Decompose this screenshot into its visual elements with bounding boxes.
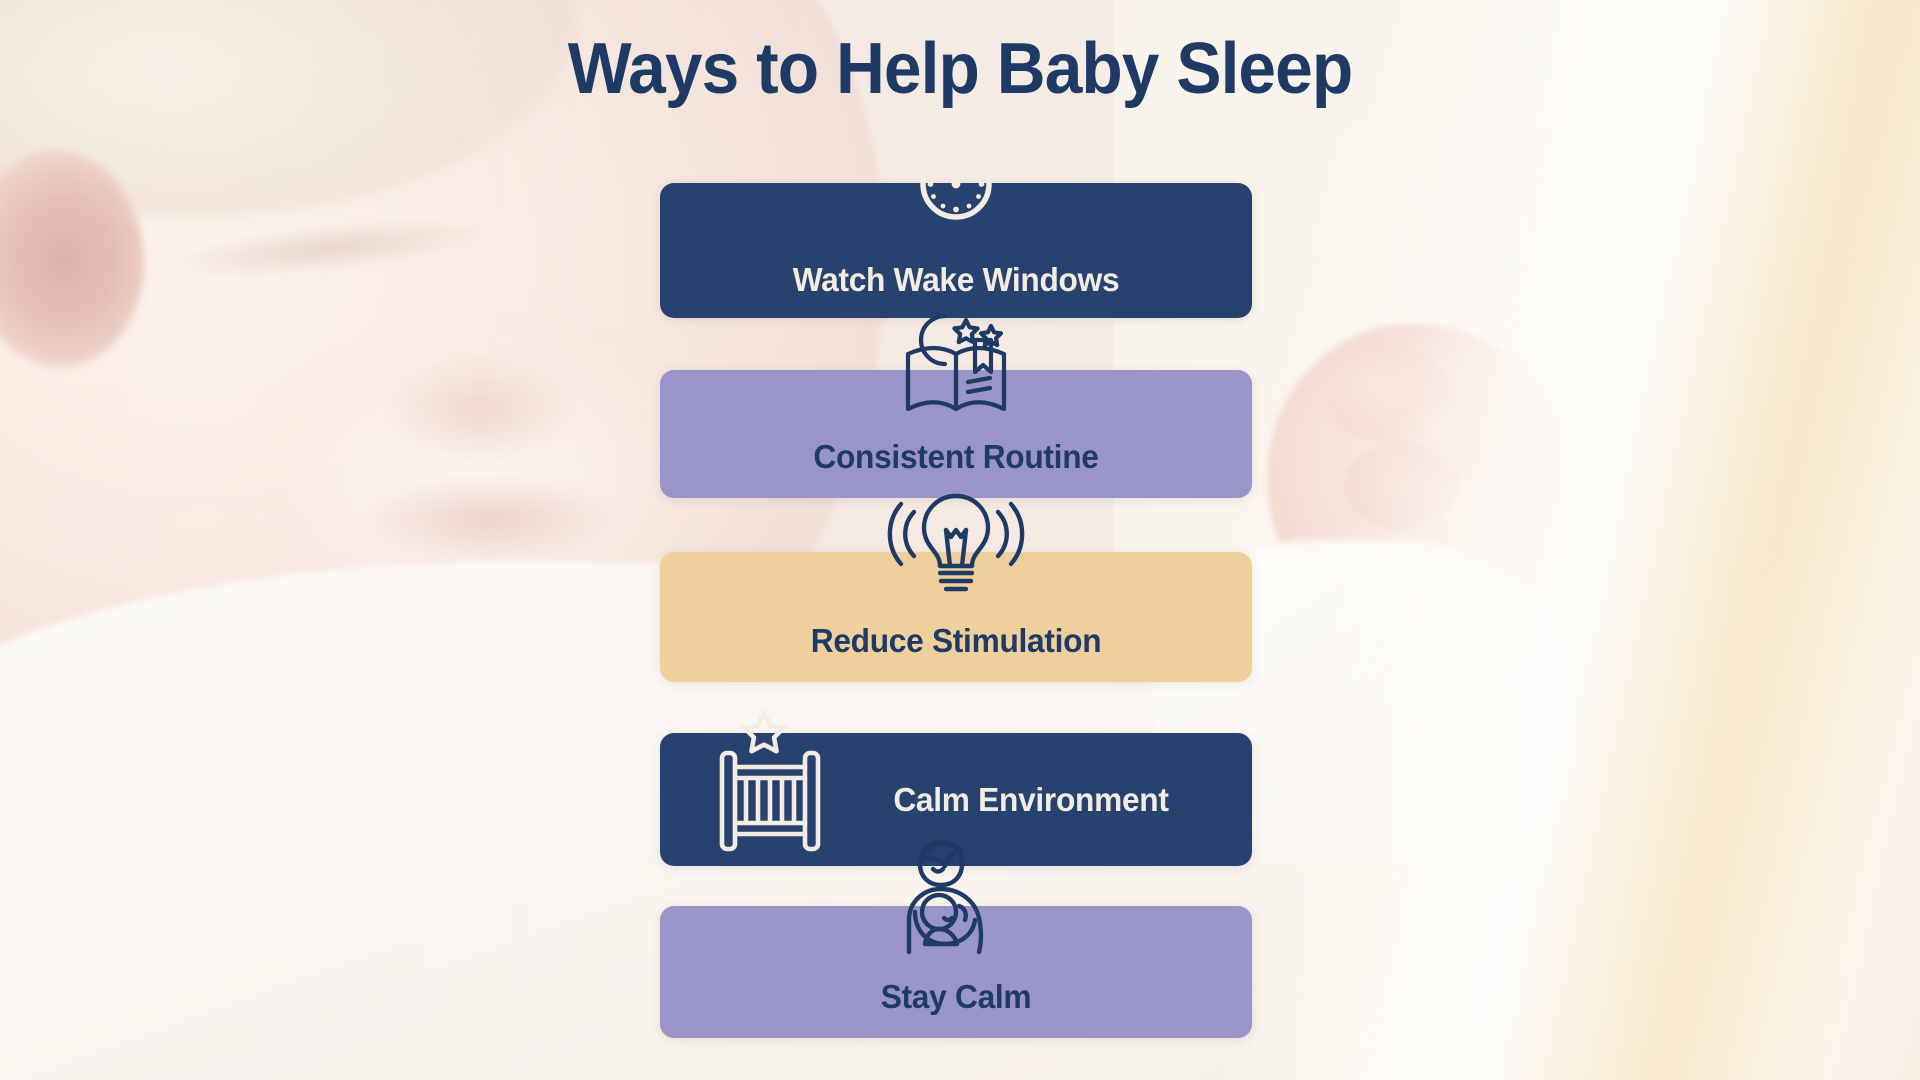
clock-icon [660,143,1252,225]
crib-star-icon [708,707,832,853]
tip-card-label: Calm Environment [819,781,1243,819]
tip-card-label: Stay Calm [672,978,1240,1016]
parent-holding-baby-icon [660,834,1252,956]
tip-card-stay-calm[interactable]: Stay Calm [660,906,1252,1038]
tip-card-watch-wake-windows[interactable]: Watch Wake Windows [660,183,1252,318]
tip-card-label: Reduce Stimulation [672,622,1240,660]
tip-card-label: Watch Wake Windows [672,261,1240,299]
tip-card-consistent-routine[interactable]: Consistent Routine [660,370,1252,498]
book-moon-stars-icon [660,308,1252,420]
lightbulb-icon [660,490,1252,600]
tip-card-label: Consistent Routine [672,438,1240,476]
tips-card-list: Watch Wake Windows [0,0,1920,1080]
tip-card-reduce-stimulation[interactable]: Reduce Stimulation [660,552,1252,682]
